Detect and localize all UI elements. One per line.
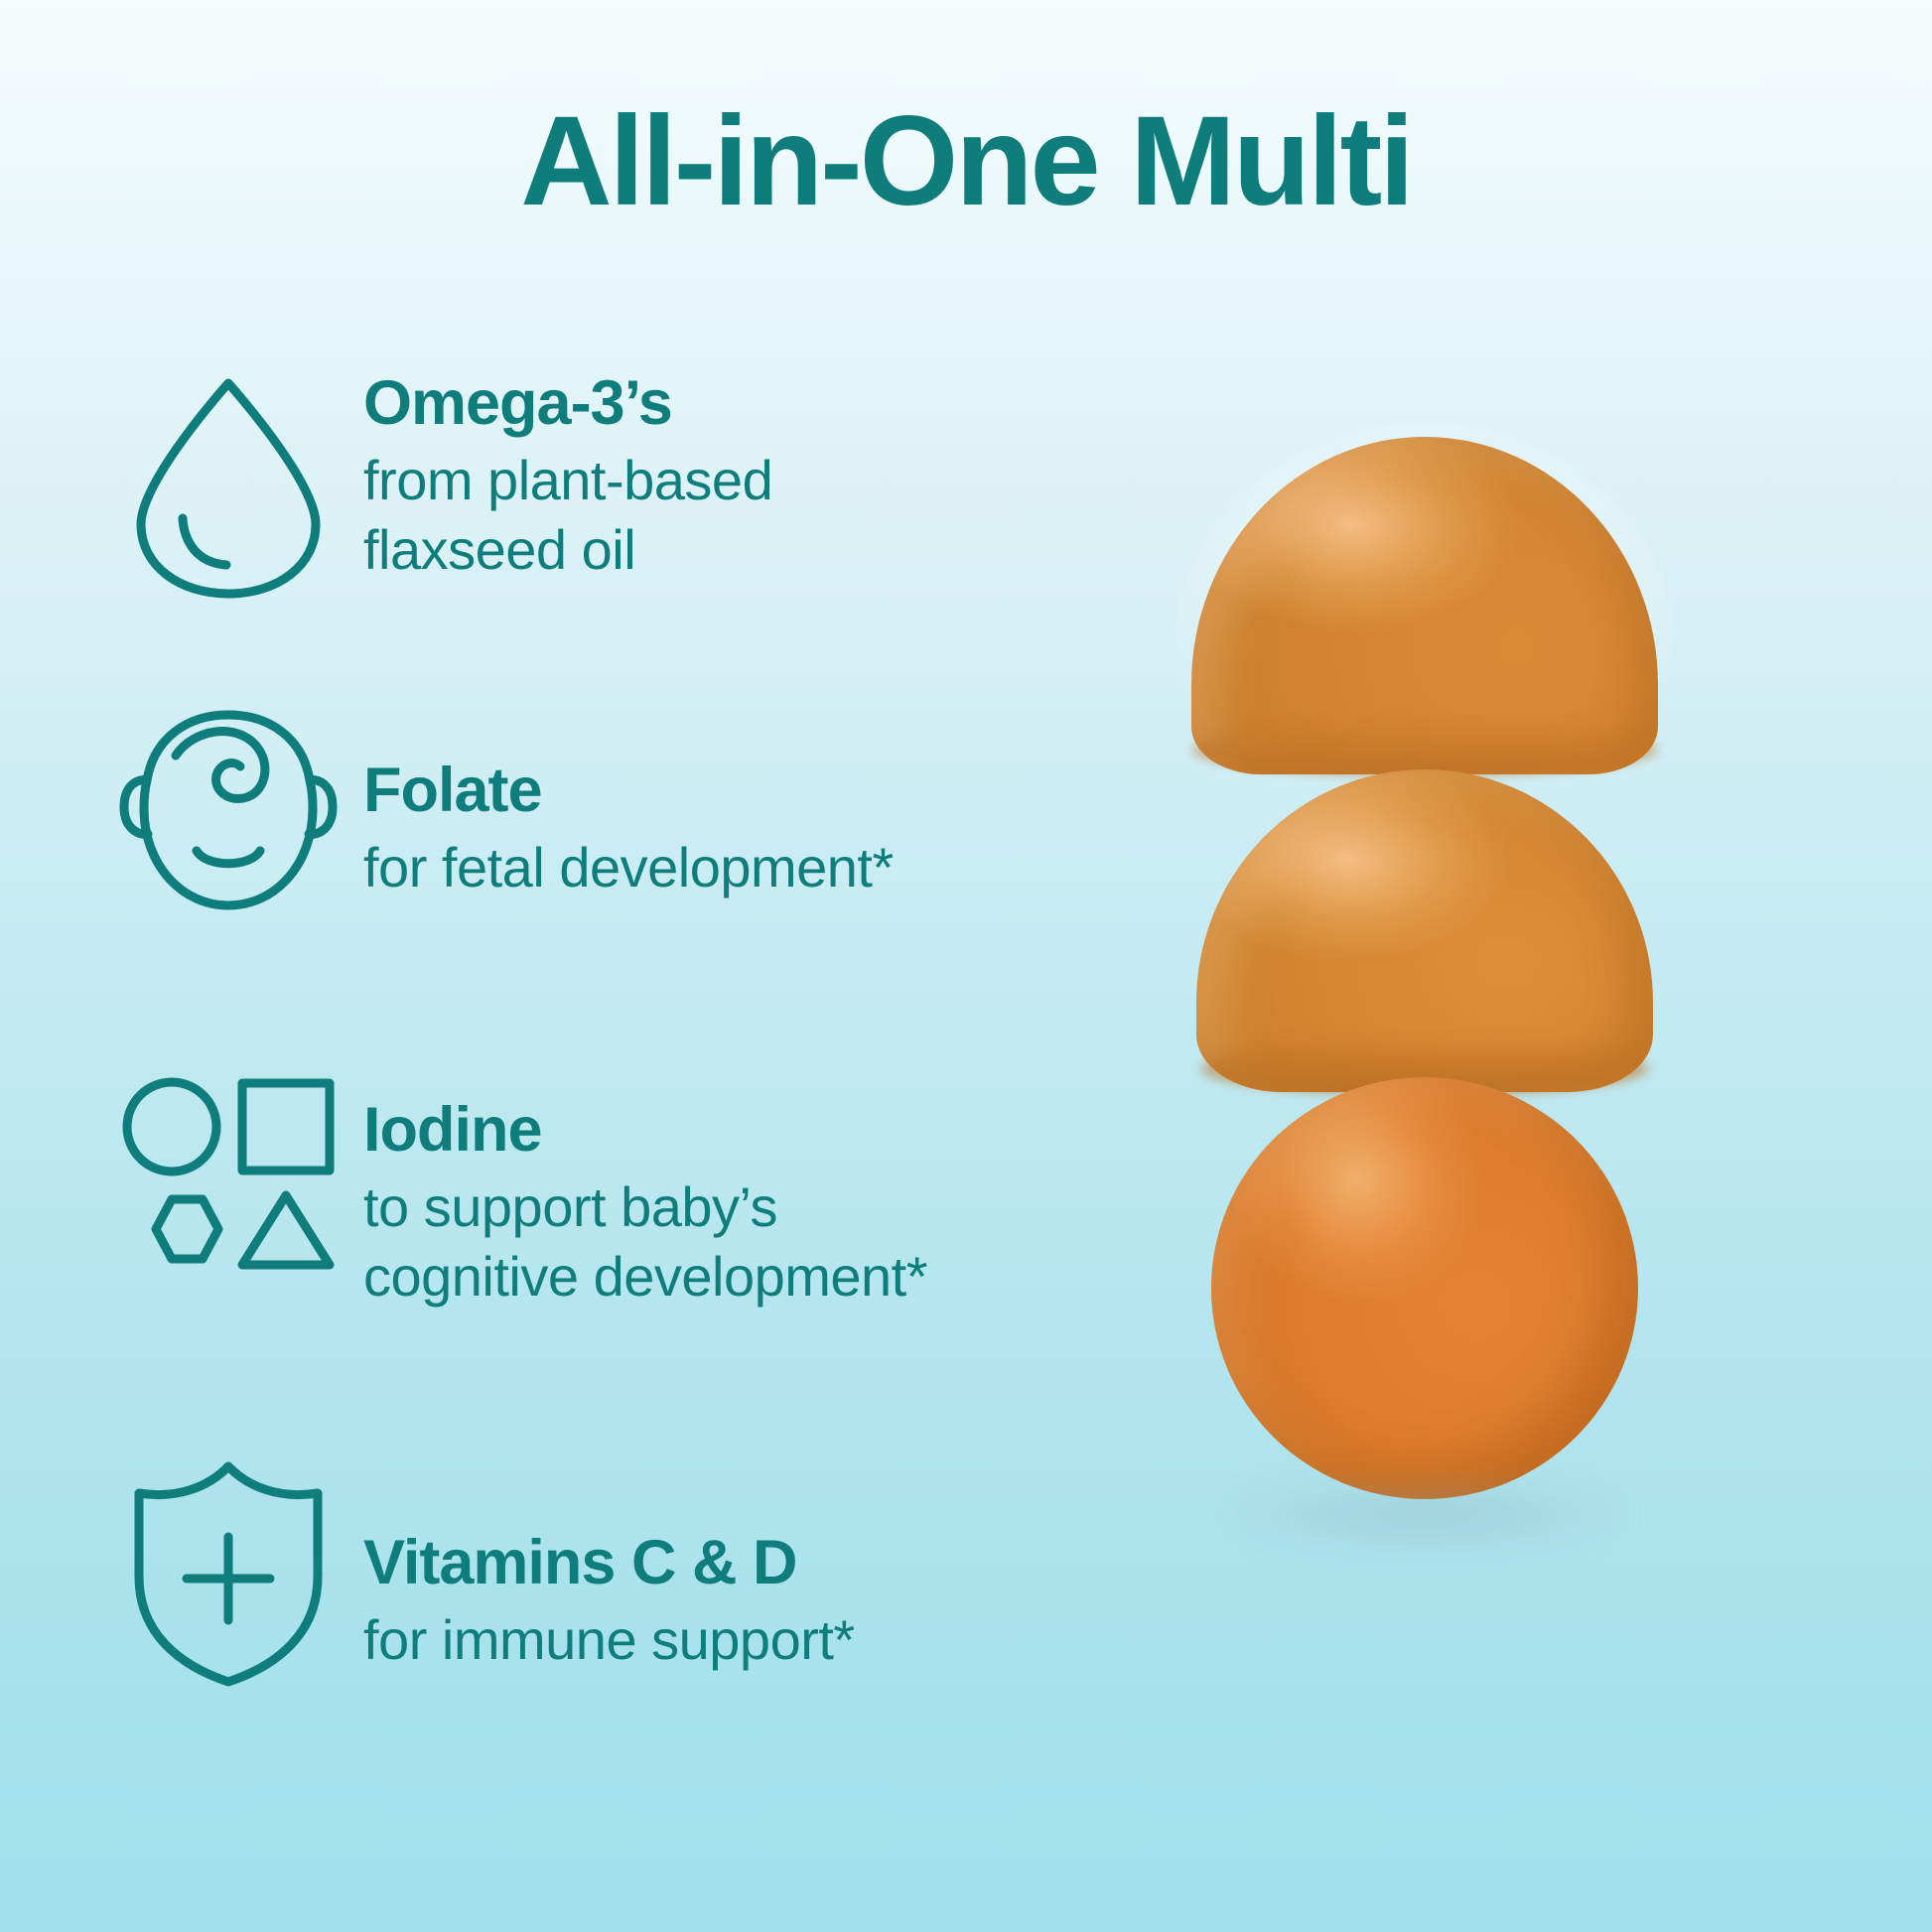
- feature-text-folate: Folate for fetal development*: [347, 695, 894, 902]
- shapes-icon: [109, 1072, 347, 1289]
- feature-text-iodine: Iodine to support baby’s cognitive devel…: [347, 1072, 927, 1311]
- feature-description: from plant-based flaxseed oil: [363, 446, 772, 584]
- feature-description: for fetal development*: [363, 833, 894, 901]
- triangle-shape: [242, 1195, 330, 1265]
- gummy-sphere-bottom: [1211, 1077, 1638, 1499]
- feature-description: to support baby’s cognitive development*: [363, 1173, 927, 1311]
- circle-shape: [127, 1082, 216, 1172]
- feature-item-vitamins: Vitamins C & D for immune support*: [109, 1459, 1142, 1847]
- feature-text-vitamins: Vitamins C & D for immune support*: [347, 1459, 855, 1675]
- feature-item-folate: Folate for fetal development*: [109, 695, 1142, 1072]
- product-feature-graphic: All-in-One Multi Omega-3’s from plant-ba…: [0, 0, 1932, 1932]
- feature-item-omega3: Omega-3’s from plant-based flaxseed oil: [109, 367, 1142, 695]
- feature-title: Folate: [363, 755, 894, 827]
- square-shape: [242, 1083, 330, 1171]
- droplet-icon: [109, 367, 347, 602]
- feature-title: Vitamins C & D: [363, 1527, 855, 1599]
- shield-plus-icon: [109, 1459, 347, 1688]
- gummy-drop-shadow: [1226, 1479, 1623, 1549]
- feature-title: Iodine: [363, 1094, 927, 1167]
- feature-list: Omega-3’s from plant-based flaxseed oil: [109, 367, 1142, 1847]
- gummy-stack-image: [1013, 437, 1837, 1767]
- page-title: All-in-One Multi: [0, 95, 1932, 228]
- feature-text-omega3: Omega-3’s from plant-based flaxseed oil: [347, 367, 772, 584]
- hexagon-shape: [156, 1199, 218, 1259]
- baby-face-icon: [109, 695, 347, 915]
- feature-title: Omega-3’s: [363, 367, 772, 440]
- gummy-bell-middle: [1196, 769, 1653, 1092]
- feature-item-iodine: Iodine to support baby’s cognitive devel…: [109, 1072, 1142, 1459]
- feature-description: for immune support*: [363, 1605, 855, 1674]
